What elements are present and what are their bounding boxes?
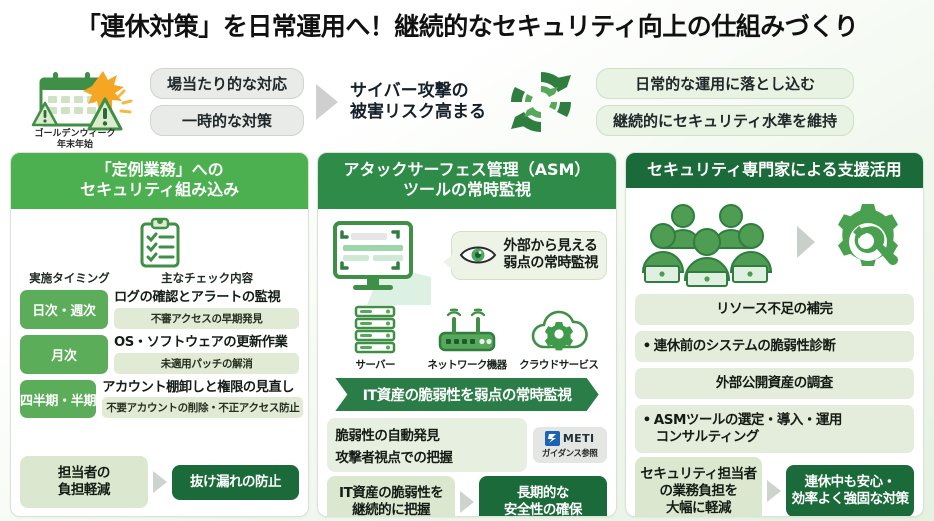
meti-logo-icon — [545, 431, 560, 446]
row-task-2: OS・ソフトウェアの更新作業 — [114, 335, 299, 351]
panel-middle-header-line1: アタックサーフェス管理（ASM） — [324, 160, 609, 180]
cloud-gear-icon — [528, 303, 590, 355]
cycle-group — [486, 66, 596, 138]
meti-badge: METI ガイダンス参照 — [533, 427, 607, 463]
expert-service-list: リソース不足の補完 •連休前のシステムの脆弱性診断 外部公開資産の調査 •ASM… — [635, 294, 914, 452]
list-item-label: 連休前のシステムの脆弱性診断 — [654, 338, 836, 354]
table-row: 日次・週次 ログの確認とアラートの監視 不審アクセスの早期発見 — [20, 290, 299, 329]
refresh-cycle-icon — [502, 66, 580, 138]
row-content-1: ログの確認とアラートの監視 不審アクセスの早期発見 — [114, 290, 299, 329]
footer-arrow-icon — [460, 491, 474, 513]
solution-pill-1: 日常的な運用に落とし込む — [596, 68, 854, 99]
panel-left-footer: 担当者の 負担軽減 抜け漏れの防止 — [20, 452, 299, 508]
list-item: •ASMツールの選定・導入・運用 コンサルティング — [635, 405, 914, 453]
row-detail-1: 不審アクセスの早期発見 — [114, 308, 299, 329]
asset-label-server: サーバー — [355, 357, 395, 372]
panel-middle-header-line2: ツールの常時監視 — [324, 180, 609, 200]
top-flow-strip: ゴールデンウィーク 年末年始 場当たり的な対応 一時的な対策 サイバー攻撃の 被… — [0, 56, 934, 148]
panel-right-body: リソース不足の補完 •連休前のシステムの脆弱性診断 外部公開資産の調査 •ASM… — [626, 188, 923, 517]
row-detail-3: 不要アカウントの削除・不正アクセス防止 — [102, 397, 303, 418]
solution-pill-2: 継続的にセキュリティ水準を維持 — [596, 105, 854, 136]
router-icon — [434, 303, 500, 355]
asset-network: ネットワーク機器 — [422, 303, 513, 372]
monitoring-callout: 外部から見える 弱点の常時監視 — [451, 231, 607, 280]
list-item: リソース不足の補完 — [635, 294, 914, 325]
clipboard-checklist-icon — [135, 217, 185, 269]
list-item: •連休前のシステムの脆弱性診断 — [635, 331, 914, 362]
middle-footer-strong: 長期的な 安全性の確保 — [479, 476, 607, 517]
row-task-3: アカウント棚卸しと権限の見直し — [102, 380, 303, 396]
table-column-headers: 実施タイミング 主なチェック内容 — [20, 270, 299, 290]
calendar-alert-icon — [15, 67, 135, 137]
left-footer-soft: 担当者の 負担軽減 — [20, 456, 148, 508]
left-footer-soft-line2: 負担軽減 — [24, 482, 144, 499]
right-footer-strong-line1: 連休中も安心・ — [790, 474, 910, 491]
row-content-3: アカウント棚卸しと権限の見直し 不要アカウントの削除・不正アクセス防止 — [102, 380, 303, 419]
bullet-dot: • — [643, 338, 651, 354]
flow-arrow-icon-1 — [316, 84, 338, 120]
panel-left-header-line1: 「定例業務」への — [17, 160, 302, 180]
panel-right-header: セキュリティ専門家による支援活用 — [626, 153, 923, 188]
panel-middle-footer: IT資産の脆弱性を 継続的に把握 長期的な 安全性の確保 — [327, 472, 606, 517]
right-footer-soft: セキュリティ担当者 の業務負担を 大幅に軽減 — [635, 457, 763, 517]
list-item: 外部公開資産の調査 — [635, 368, 914, 399]
calendar-caption-line2: 年末年始 — [0, 140, 150, 150]
column-header-timing: 実施タイミング — [22, 270, 117, 286]
right-footer-soft-line1: セキュリティ担当者 — [639, 466, 759, 483]
row-timing-2: 月次 — [20, 335, 108, 374]
calendar-caption-line1: ゴールデンウィーク — [0, 129, 150, 139]
bullet-dot: • — [643, 412, 651, 428]
row-content-2: OS・ソフトウェアの更新作業 未適用パッチの解消 — [114, 335, 299, 374]
panel-routine-security: 「定例業務」への セキュリティ組み込み — [10, 152, 309, 517]
asset-label-network: ネットワーク機器 — [427, 357, 506, 372]
asset-label-cloud: クラウドサービス — [519, 357, 598, 372]
risk-text: サイバー攻撃の 被害リスク高まる — [350, 81, 486, 124]
footer-arrow-icon — [153, 471, 167, 493]
monitor-scan-icon — [327, 219, 447, 305]
right-footer-strong: 連休中も安心・ 効率よく強固な対策 — [786, 465, 914, 517]
row-task-1: ログの確認とアラートの監視 — [114, 290, 299, 306]
panel-right-footer: セキュリティ担当者 の業務負担を 大幅に軽減 連休中も安心・ 効率よく強固な対策 — [635, 453, 914, 517]
asm-bullets-row: 脆弱性の自動発見 攻撃者視点での把握 METI ガイダンス参照 — [327, 418, 606, 472]
list-item-label-line1: ASMツールの選定・導入・運用 — [654, 412, 842, 428]
right-footer-soft-line3: 大幅に軽減 — [639, 500, 759, 517]
right-footer-soft-line2: の業務負担を — [639, 483, 759, 500]
panel-asm-monitoring: アタックサーフェス管理（ASM） ツールの常時監視 — [317, 152, 616, 517]
left-footer-strong: 抜け漏れの防止 — [172, 465, 300, 500]
panel-middle-body: 外部から見える 弱点の常時監視 — [318, 209, 615, 517]
left-footer-soft-line1: 担当者の — [24, 465, 144, 482]
risk-line-2: 被害リスク高まる — [350, 102, 486, 123]
middle-footer-strong-line2: 安全性の確保 — [483, 502, 603, 517]
solution-pill-group: 日常的な運用に落とし込む 継続的にセキュリティ水準を維持 — [596, 68, 854, 136]
panel-left-header-line2: セキュリティ組み込み — [17, 180, 302, 200]
middle-footer-soft-line2: 継続的に把握 — [331, 502, 451, 517]
asset-server: サーバー — [330, 303, 421, 372]
gear-wrench-icon — [825, 199, 911, 285]
panel-expert-support: セキュリティ専門家による支援活用 — [625, 152, 924, 517]
asset-icon-row: サーバー — [327, 301, 606, 372]
panel-row: 「定例業務」への セキュリティ組み込み — [0, 152, 934, 517]
problem-pill-1: 場当たり的な対応 — [150, 68, 304, 99]
list-item-label-line2: コンサルティング — [643, 429, 906, 446]
column-header-check: 主なチェック内容 — [117, 270, 297, 286]
right-footer-strong-line2: 効率よく強固な対策 — [790, 491, 910, 508]
calendar-caption: ゴールデンウィーク 年末年始 — [0, 129, 150, 150]
row-detail-2: 未適用パッチの解消 — [114, 353, 299, 374]
asm-bullets: 脆弱性の自動発見 攻撃者視点での把握 — [327, 418, 526, 472]
row-timing-1: 日次・週次 — [20, 290, 108, 329]
callout-line1: 外部から見える — [503, 238, 598, 256]
problem-pill-2: 一時的な対策 — [150, 105, 304, 136]
monitoring-callout-text: 外部から見える 弱点の常時監視 — [503, 238, 598, 273]
callout-line2: 弱点の常時監視 — [503, 255, 598, 273]
risk-line-1: サイバー攻撃の — [350, 81, 486, 102]
table-row: 四半期・半期 アカウント棚卸しと権限の見直し 不要アカウントの削除・不正アクセス… — [20, 380, 299, 419]
panel-left-header: 「定例業務」への セキュリティ組み込み — [11, 153, 308, 209]
asm-bullet-2: 攻撃者視点での把握 — [335, 446, 518, 466]
asm-banner: IT資産の脆弱性を弱点の常時監視 — [335, 378, 598, 411]
monitor-area: 外部から見える 弱点の常時監視 — [327, 215, 606, 301]
footer-arrow-icon — [767, 480, 781, 502]
expert-team-icon — [637, 196, 787, 288]
flow-arrow-icon-2 — [793, 223, 819, 261]
eye-icon — [458, 242, 498, 268]
meti-name: METI — [563, 432, 595, 445]
calendar-group: ゴールデンウィーク 年末年始 — [0, 56, 150, 148]
middle-footer-soft-line1: IT資産の脆弱性を — [331, 485, 451, 502]
panel-middle-header: アタックサーフェス管理（ASM） ツールの常時監視 — [318, 153, 615, 209]
row-timing-3: 四半期・半期 — [20, 380, 96, 419]
page-title: 「連休対策」を日常運用へ！継続的なセキュリティ向上の仕組みづくり — [0, 0, 934, 42]
middle-footer-soft: IT資産の脆弱性を 継続的に把握 — [327, 476, 455, 517]
table-row: 月次 OS・ソフトウェアの更新作業 未適用パッチの解消 — [20, 335, 299, 374]
meti-badge-top: METI — [536, 431, 604, 446]
asm-bullet-1: 脆弱性の自動発見 — [335, 424, 518, 444]
clipboard-row — [20, 217, 299, 269]
meti-sub: ガイダンス参照 — [536, 447, 604, 459]
middle-footer-strong-line1: 長期的な — [483, 485, 603, 502]
server-icon — [349, 303, 401, 355]
experts-area — [635, 194, 914, 290]
problem-pill-group: 場当たり的な対応 一時的な対策 — [150, 68, 304, 136]
asset-cloud: クラウドサービス — [513, 303, 604, 372]
panel-left-body: 実施タイミング 主なチェック内容 日次・週次 ログの確認とアラートの監視 不審ア… — [11, 209, 308, 516]
